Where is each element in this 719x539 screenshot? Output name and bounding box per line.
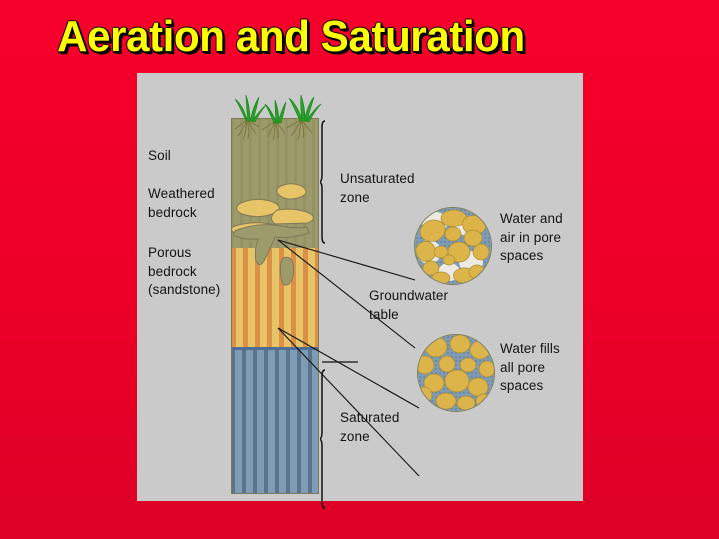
label-groundwater-table: Groundwater table <box>369 287 448 324</box>
grass-icon <box>222 83 332 133</box>
bedrock-fragments <box>231 118 319 494</box>
label-saturated-zone: Saturated zone <box>340 409 399 446</box>
pore-diagram-unsaturated <box>414 207 492 285</box>
label-unsaturated-zone: Unsaturated zone <box>340 170 415 207</box>
slide-root: Aeration and Saturation <box>0 0 719 539</box>
label-porous-bedrock: Porous bedrock (sandstone) <box>148 244 220 300</box>
label-soil: Soil <box>148 147 171 166</box>
callout-water-fills: Water fills all pore spaces <box>500 340 560 396</box>
figure-panel: Soil Weathered bedrock Porous bedrock (s… <box>137 73 583 501</box>
label-weathered-bedrock: Weathered bedrock <box>148 185 215 222</box>
callout-water-and-air: Water and air in pore spaces <box>500 210 563 266</box>
pore-diagram-saturated <box>417 334 495 412</box>
soil-profile-column <box>231 118 319 494</box>
page-title: Aeration and Saturation <box>57 13 525 61</box>
